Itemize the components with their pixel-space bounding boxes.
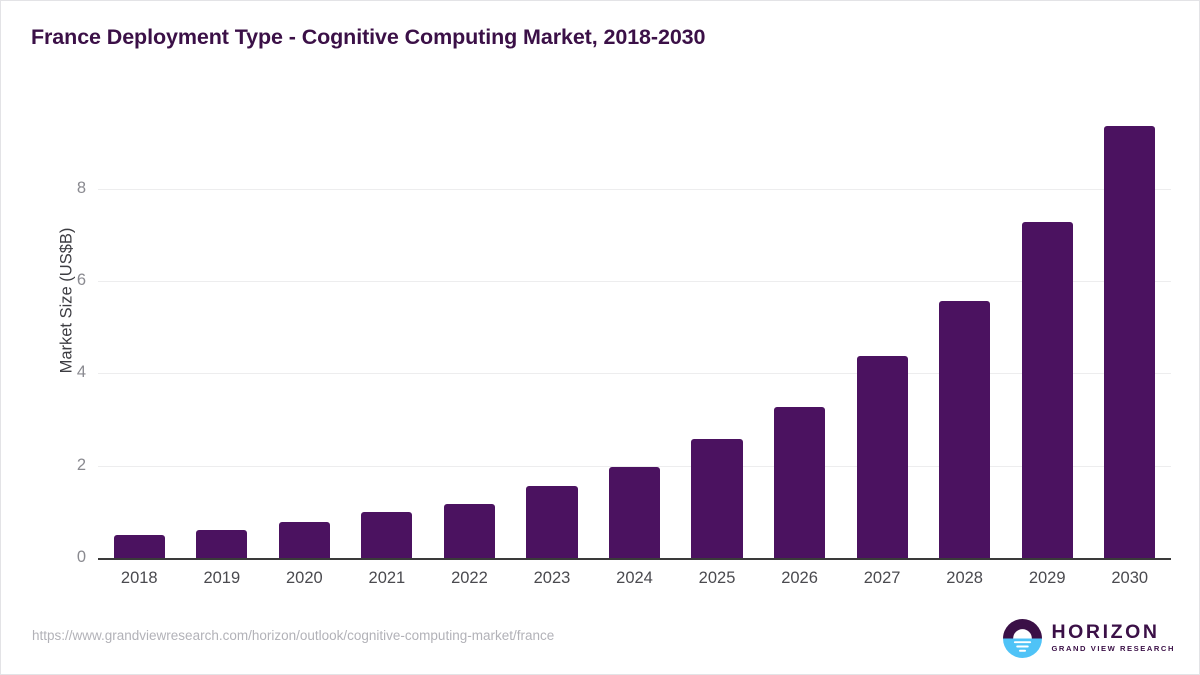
bar[interactable] [609,467,660,558]
logo-wordmark: HORIZON [1051,623,1175,643]
gridline [98,189,1171,190]
bar[interactable] [691,439,742,558]
y-axis-title: Market Size (US$B) [58,181,77,421]
source-url[interactable]: https://www.grandviewresearch.com/horizo… [32,628,554,643]
y-tick-label: 4 [46,364,86,381]
y-tick-label: 8 [46,180,86,197]
logo-text-block: HORIZON GRAND VIEW RESEARCH [1051,623,1175,653]
bar[interactable] [361,512,412,558]
bar[interactable] [1022,222,1073,558]
bar[interactable] [279,522,330,558]
y-tick-label: 2 [46,457,86,474]
bar[interactable] [526,486,577,558]
bar[interactable] [114,535,165,558]
bar[interactable] [196,530,247,558]
horizon-logo-icon [1003,619,1042,658]
gridline [98,281,1171,282]
bar[interactable] [939,301,990,558]
chart-plot-area: Market Size (US$B) 02468 201820192020202… [1,1,1200,675]
x-axis-line [98,558,1171,560]
chart-page: France Deployment Type - Cognitive Compu… [0,0,1200,675]
y-tick-label: 6 [46,272,86,289]
logo-tagline: GRAND VIEW RESEARCH [1051,645,1175,653]
bar[interactable] [857,356,908,558]
x-tick-label: 2030 [1080,569,1180,588]
bar[interactable] [774,407,825,558]
gridline [98,373,1171,374]
bar[interactable] [444,504,495,558]
brand-logo: HORIZON GRAND VIEW RESEARCH [1003,615,1175,661]
bar[interactable] [1104,126,1155,558]
y-tick-label: 0 [46,549,86,566]
